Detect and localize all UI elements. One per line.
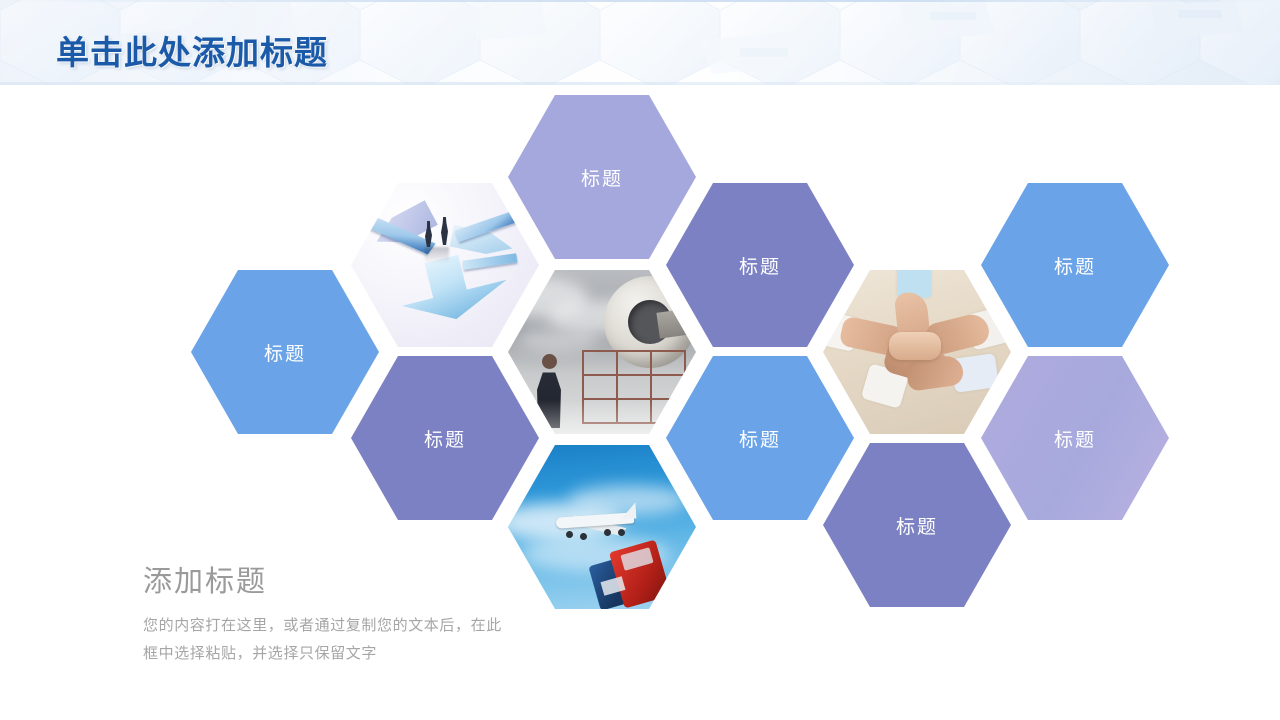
hex-cell-9[interactable] [823, 270, 1011, 434]
hex-cell-11-label: 标题 [1054, 252, 1096, 279]
bottom-body-line-1: 您的内容打在这里，或者通过复制您的文本后，在此 [143, 612, 663, 640]
hex-cell-7[interactable]: 标题 [666, 183, 854, 347]
hex-cell-1-label: 标题 [264, 339, 306, 366]
hex-cell-3[interactable]: 标题 [351, 356, 539, 520]
bottom-text-block: 添加标题 您的内容打在这里，或者通过复制您的文本后，在此 框中选择粘贴，并选择只… [143, 558, 663, 668]
hex-cell-11[interactable]: 标题 [981, 183, 1169, 347]
hex-cell-8[interactable]: 标题 [666, 356, 854, 520]
team-hands-together-image [823, 270, 1011, 434]
hex-cell-10-label: 标题 [896, 512, 938, 539]
hex-cell-10[interactable]: 标题 [823, 443, 1011, 607]
hex-cell-5[interactable] [508, 270, 696, 434]
hex-cell-4-label: 标题 [581, 164, 623, 191]
hex-cell-7-label: 标题 [739, 252, 781, 279]
hex-cell-12-label: 标题 [1054, 425, 1096, 452]
business-arrows-direction-image [351, 183, 539, 347]
businessman-monument-thinking-image [508, 270, 696, 434]
hex-cell-12[interactable]: 标题 [981, 356, 1169, 520]
bottom-body: 您的内容打在这里，或者通过复制您的文本后，在此 框中选择粘贴，并选择只保留文字 [143, 612, 663, 668]
hex-cell-2[interactable] [351, 183, 539, 347]
hex-cell-1[interactable]: 标题 [191, 270, 379, 434]
hex-cell-4[interactable]: 标题 [508, 95, 696, 259]
hex-cell-8-label: 标题 [739, 425, 781, 452]
hex-cell-3-label: 标题 [424, 425, 466, 452]
page-title: 单击此处添加标题 [56, 26, 328, 74]
bottom-heading: 添加标题 [143, 558, 663, 600]
bottom-body-line-2: 框中选择粘贴，并选择只保留文字 [143, 640, 663, 668]
